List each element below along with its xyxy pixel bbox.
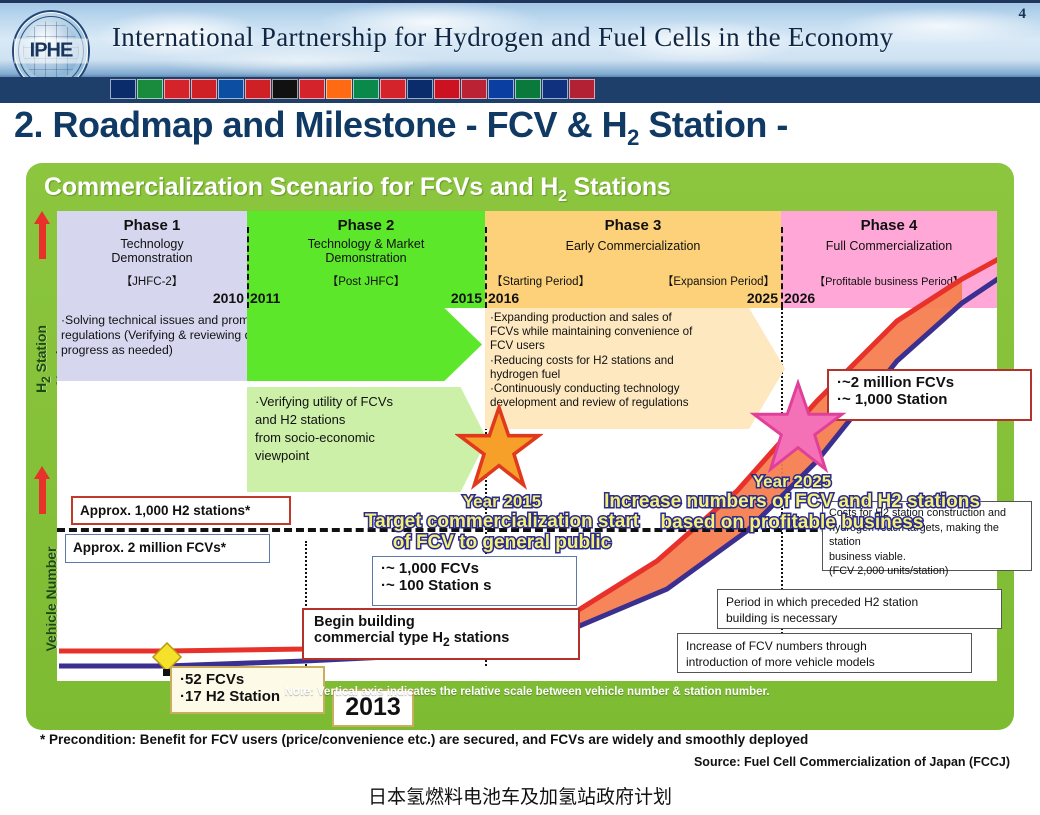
axis-rail: H2 Station Number Vehicle Number bbox=[26, 211, 57, 706]
page-number: 4 bbox=[1019, 6, 1027, 23]
chinese-caption: 日本氢燃料电池车及加氢站政府计划 bbox=[0, 782, 1040, 809]
begin-building-line-2: commercial type H2 stations bbox=[304, 630, 578, 649]
panel-heading: Commercialization Scenario for FCVs and … bbox=[44, 173, 994, 207]
panel-heading-sub: 2 bbox=[558, 188, 567, 205]
iphe-banner: 4 IPHE International Partnership for Hyd… bbox=[0, 0, 1040, 103]
approx-fcvs-callout[interactable]: Approx. 2 million FCVs* bbox=[65, 534, 270, 563]
year-2015-line-2: of FCV to general public bbox=[337, 533, 667, 554]
mid-target-line-1: ·~ 1,000 FCVs bbox=[373, 557, 576, 577]
year-2025-line-1: Increase numbers of FCV and H2 stations bbox=[577, 492, 1007, 513]
precondition-note: * Precondition: Benefit for FCV users (p… bbox=[40, 732, 1000, 747]
year-2025-star-icon bbox=[749, 379, 847, 477]
station-axis-stem bbox=[39, 223, 46, 259]
vehicle-axis-stem bbox=[39, 478, 46, 514]
flag-icon bbox=[380, 79, 406, 99]
banner-title: International Partnership for Hydrogen a… bbox=[112, 22, 992, 53]
flag-icon bbox=[434, 79, 460, 99]
mid-target-line-2: ·~ 100 Station s bbox=[373, 577, 576, 594]
flag-icon bbox=[245, 79, 271, 99]
year-2025-title: Year 2025 bbox=[577, 473, 1007, 492]
flag-icon bbox=[542, 79, 568, 99]
approx-stations-text: Approx. 1,000 H2 stations* bbox=[73, 498, 289, 523]
flag-icon bbox=[164, 79, 190, 99]
flag-icon bbox=[137, 79, 163, 99]
flag-icon bbox=[461, 79, 487, 99]
flag-icon bbox=[299, 79, 325, 99]
panel-heading-main: Commercialization Scenario for FCVs and … bbox=[44, 173, 558, 201]
approx-stations-callout[interactable]: Approx. 1,000 H2 stations* bbox=[71, 496, 291, 525]
begin-building-l2a: commercial type H bbox=[314, 630, 443, 646]
year-2025-callout: Year 2025 Increase numbers of FCV and H2… bbox=[577, 473, 1007, 533]
period-note-text: Period in which preceded H2 stationbuild… bbox=[718, 590, 1001, 630]
final-target-line-1: ·~2 million FCVs bbox=[829, 371, 1030, 391]
final-target-line-2: ·~ 1,000 Station bbox=[829, 391, 1030, 408]
scenario-panel: Commercialization Scenario for FCVs and … bbox=[26, 163, 1014, 730]
panel-heading-tail: Stations bbox=[567, 173, 671, 201]
year-2025-line-2: based on profitable business bbox=[577, 513, 1007, 534]
page-title-tail: Station - bbox=[639, 104, 788, 145]
flag-icon bbox=[353, 79, 379, 99]
begin-building-l2b: stations bbox=[450, 630, 510, 646]
flag-icon bbox=[569, 79, 595, 99]
page-title-sub: 2 bbox=[627, 125, 639, 150]
period-note-callout[interactable]: Period in which preceded H2 stationbuild… bbox=[717, 589, 1002, 629]
begin-building-line-1: Begin building bbox=[304, 610, 578, 630]
flag-icon bbox=[326, 79, 352, 99]
member-flags bbox=[110, 79, 595, 101]
approx-fcvs-text: Approx. 2 million FCVs* bbox=[66, 535, 269, 560]
mid-target-callout[interactable]: ·~ 1,000 FCVs ·~ 100 Station s bbox=[372, 556, 577, 606]
final-target-callout[interactable]: ·~2 million FCVs ·~ 1,000 Station bbox=[827, 369, 1032, 421]
begin-building-sub: 2 bbox=[443, 635, 450, 649]
page-title: 2. Roadmap and Milestone - FCV & H2 Stat… bbox=[14, 104, 1024, 154]
banner-top-rule bbox=[0, 0, 1040, 3]
flag-icon bbox=[488, 79, 514, 99]
chart-plot-area: Phase 1 TechnologyDemonstration 【JHFC-2】… bbox=[57, 211, 997, 681]
increase-note-callout[interactable]: Increase of FCV numbers throughintroduct… bbox=[677, 633, 972, 673]
chart-note: Note: Vertical axis indicates the relati… bbox=[57, 681, 997, 703]
increase-note-text: Increase of FCV numbers throughintroduct… bbox=[678, 634, 971, 674]
flag-icon bbox=[191, 79, 217, 99]
flag-icon bbox=[218, 79, 244, 99]
begin-building-callout[interactable]: Begin building commercial type H2 statio… bbox=[302, 608, 580, 660]
page-title-main: 2. Roadmap and Milestone - FCV & H bbox=[14, 104, 627, 145]
flag-icon bbox=[110, 79, 136, 99]
flag-icon bbox=[407, 79, 433, 99]
year-2015-star-icon bbox=[455, 404, 543, 492]
flag-icon bbox=[515, 79, 541, 99]
logo-wordmark: IPHE bbox=[14, 39, 88, 64]
flag-icon bbox=[272, 79, 298, 99]
source-note: Source: Fuel Cell Commercialization of J… bbox=[694, 755, 1010, 769]
